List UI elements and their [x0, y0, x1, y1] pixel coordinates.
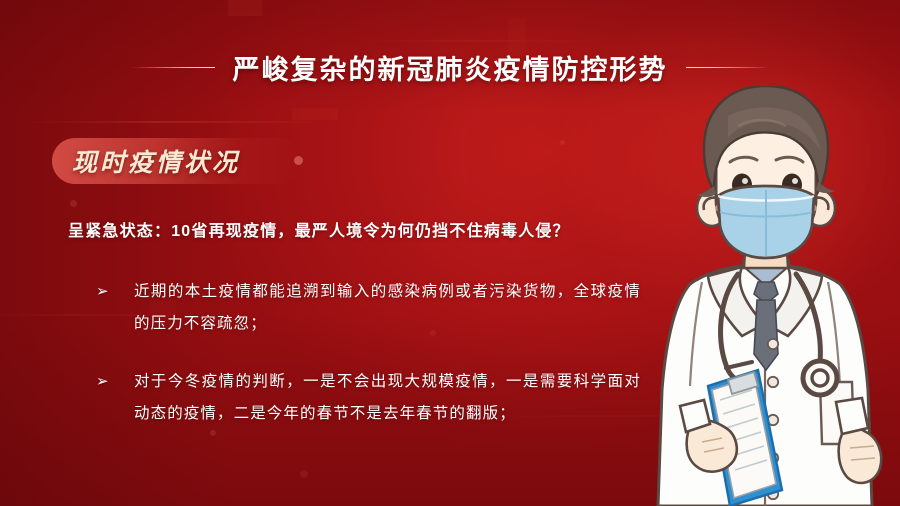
background-dot	[560, 140, 565, 145]
background-dot	[70, 200, 77, 207]
background-streak	[18, 121, 324, 123]
list-item: ➢ 近期的本土疫情都能追溯到输入的感染病例或者污染货物，全球疫情的压力不容疏忽；	[96, 276, 641, 340]
surgical-mask	[704, 186, 829, 258]
slide-title-row: 严峻复杂的新冠肺炎疫情防控形势	[0, 48, 900, 87]
doctor-illustration	[630, 86, 900, 506]
list-item-text: 近期的本土疫情都能追溯到输入的感染病例或者污染货物，全球疫情的压力不容疏忽；	[134, 276, 641, 340]
background-block	[292, 108, 338, 120]
arrow-bullet-icon: ➢	[96, 366, 134, 398]
title-rule-left	[131, 67, 215, 69]
section-heading-label: 现时疫情状况	[72, 143, 240, 179]
background-streak	[360, 40, 612, 42]
arrow-bullet-icon: ➢	[96, 276, 134, 308]
title-rule-right	[686, 67, 770, 69]
lead-paragraph: 呈紧急状态：10省再现疫情，最严人境令为何仍挡不住病毒人侵？	[68, 217, 570, 241]
slide-canvas: 严峻复杂的新冠肺炎疫情防控形势 现时疫情状况 呈紧急状态：10省再现疫情，最严人…	[0, 0, 900, 506]
background-dot	[300, 470, 308, 478]
background-block	[228, 0, 262, 16]
page-title: 严峻复杂的新冠肺炎疫情防控形势	[233, 48, 668, 87]
right-hand	[836, 398, 881, 483]
section-pill-accent-dot	[294, 156, 303, 165]
list-item: ➢ 对于今冬疫情的判断，一是不会出现大规模疫情，一是需要科学面对动态的疫情，二是…	[96, 366, 641, 430]
bullet-list: ➢ 近期的本土疫情都能追溯到输入的感染病例或者污染货物，全球疫情的压力不容疏忽；…	[96, 276, 641, 456]
section-heading-pill: 现时疫情状况	[52, 138, 302, 184]
list-item-text: 对于今冬疫情的判断，一是不会出现大规模疫情，一是需要科学面对动态的疫情，二是今年…	[134, 366, 641, 430]
